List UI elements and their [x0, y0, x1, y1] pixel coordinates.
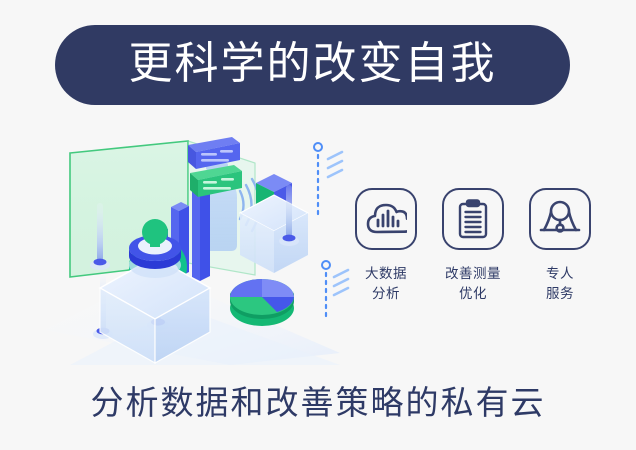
- feature-item-big-data[interactable]: 大数据 分析: [350, 188, 422, 338]
- title-banner: 更科学的改变自我: [55, 25, 570, 105]
- headset-agent-icon: [529, 188, 591, 250]
- banner-graphic: 更科学的改变自我: [0, 0, 636, 450]
- pie-chart-3d: [230, 279, 294, 326]
- feature-label-line1: 专人: [546, 264, 574, 284]
- feature-label-line1: 改善测量: [445, 264, 501, 284]
- feature-label-line2: 分析: [365, 284, 407, 304]
- feature-label-measurement: 改善测量 优化: [445, 264, 501, 303]
- feature-list: 大数据 分析 改善测量: [350, 188, 596, 338]
- feature-label-big-data: 大数据 分析: [365, 264, 407, 303]
- feature-item-service[interactable]: 专人 服务: [524, 188, 596, 338]
- illustration: [40, 125, 350, 370]
- feature-label-line2: 优化: [445, 284, 501, 304]
- page-title: 更科学的改变自我: [129, 42, 497, 86]
- feature-label-line2: 服务: [546, 284, 574, 304]
- clipboard-icon: [442, 188, 504, 250]
- feature-label-line1: 大数据: [365, 264, 407, 284]
- feature-item-measurement[interactable]: 改善测量 优化: [437, 188, 509, 338]
- dotted-connector-a: [314, 143, 342, 217]
- cloud-bar-chart-icon: [355, 188, 417, 250]
- tagline: 分析数据和改善策略的私有云: [0, 385, 636, 421]
- feature-label-service: 专人 服务: [546, 264, 574, 303]
- dotted-connector-b: [322, 261, 348, 321]
